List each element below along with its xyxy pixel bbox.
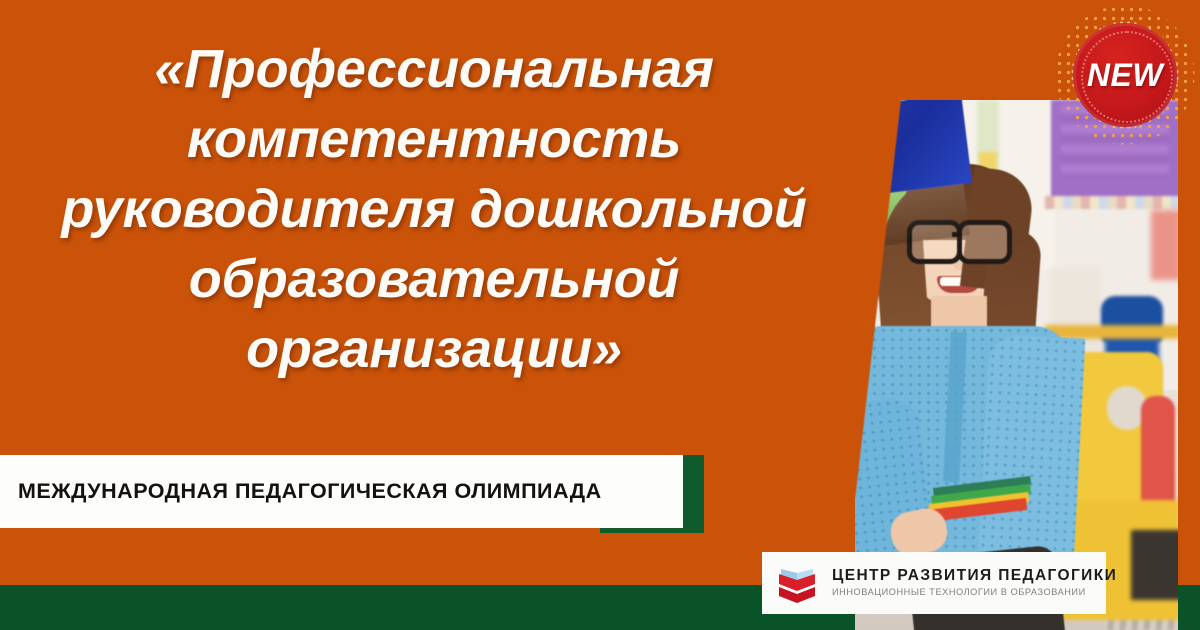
logo-subtitle: ИННОВАЦИОННЫЕ ТЕХНОЛОГИИ В ОБРАЗОВАНИИ	[832, 586, 1117, 599]
logo-title: ЦЕНТР РАЗВИТИЯ ПЕДАГОГИКИ	[832, 567, 1117, 585]
title-line-1: «Профессиональная	[0, 34, 868, 104]
poster-banner: «Профессиональная компетентность руковод…	[0, 0, 1200, 630]
title-line-4: образовательной	[0, 244, 868, 314]
open-book-logo-icon	[774, 560, 820, 606]
teacher-photo	[855, 100, 1178, 630]
logo-text-block: ЦЕНТР РАЗВИТИЯ ПЕДАГОГИКИ ИННОВАЦИОННЫЕ …	[832, 567, 1117, 599]
title-line-3: руководителя дошкольной	[0, 174, 868, 244]
page-title: «Профессиональная компетентность руковод…	[0, 34, 868, 384]
subtitle-ribbon: МЕЖДУНАРОДНАЯ ПЕДАГОГИЧЕСКАЯ ОЛИМПИАДА	[0, 455, 683, 528]
organization-logo: ЦЕНТР РАЗВИТИЯ ПЕДАГОГИКИ ИННОВАЦИОННЫЕ …	[762, 552, 1106, 614]
badge-inner-dotted-border-icon	[1081, 31, 1173, 123]
title-line-2: компетентность	[0, 104, 868, 174]
new-badge: NEW	[1055, 5, 1195, 145]
title-line-5: организации»	[0, 314, 868, 384]
ribbon-label: МЕЖДУНАРОДНАЯ ПЕДАГОГИЧЕСКАЯ ОЛИМПИАДА	[18, 479, 602, 504]
